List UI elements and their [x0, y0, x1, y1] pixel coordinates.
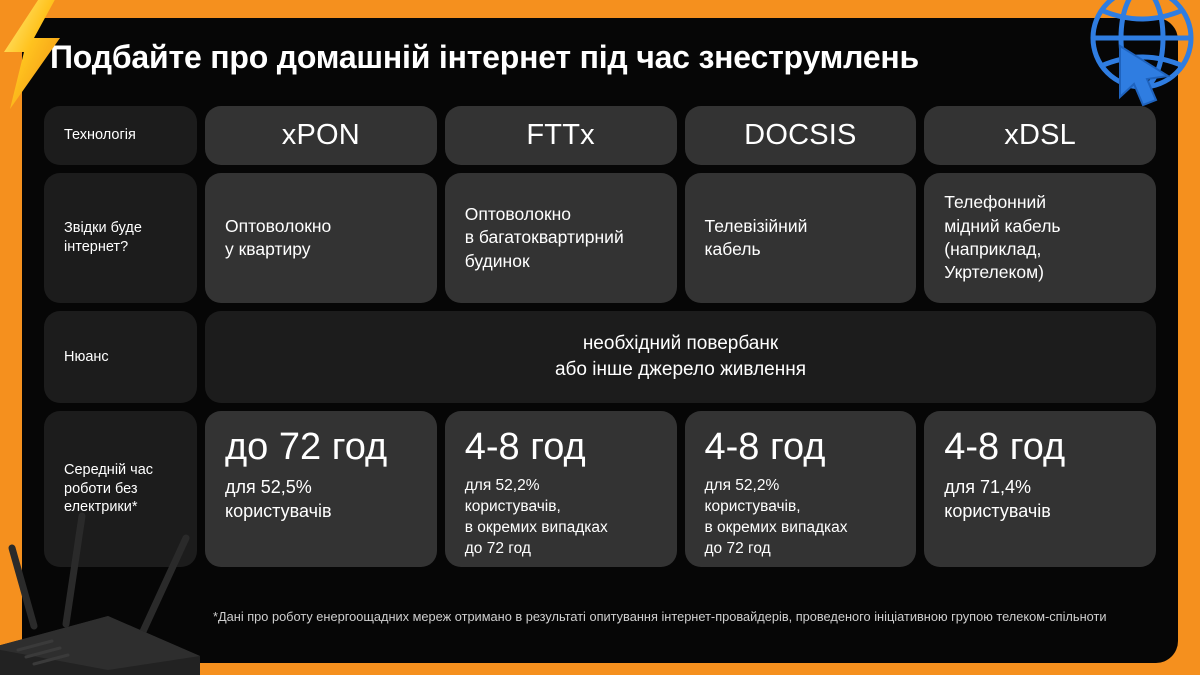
- cell-technology-docsis: DOCSIS: [685, 106, 917, 165]
- cell-technology-xpon: xPON: [205, 106, 437, 165]
- cell-source-fttx: Оптоволокно в багатоквартирний будинок: [445, 173, 677, 303]
- cell-uptime-fttx: 4-8 год для 52,2% користувачів, в окреми…: [445, 411, 677, 567]
- table-row-source: Звідки буде інтернет? Оптоволокно у квар…: [44, 173, 1156, 303]
- footnote-text: *Дані про роботу енергоощадних мереж отр…: [213, 608, 1143, 626]
- lightning-bolt-icon: [0, 0, 68, 109]
- cell-uptime-docsis: 4-8 год для 52,2% користувачів, в окреми…: [685, 411, 917, 567]
- uptime-detail-fttx: для 52,2% користувачів, в окремих випадк…: [465, 475, 657, 559]
- title-bar: Подбайте про домашній інтернет під час з…: [22, 18, 1178, 96]
- table-row-nuance: Нюанс необхідний повербанк або інше джер…: [44, 311, 1156, 403]
- row-label-uptime: Середній час роботи без електрики*: [44, 411, 197, 567]
- row-label-nuance: Нюанс: [44, 311, 197, 403]
- globe-cursor-icon: [1076, 0, 1200, 112]
- infographic-root: Подбайте про домашній інтернет під час з…: [0, 0, 1200, 675]
- page-title: Подбайте про домашній інтернет під час з…: [50, 39, 919, 76]
- comparison-table: Технологія xPON FTTx DOCSIS xDSL Звідки …: [44, 106, 1156, 567]
- uptime-detail-docsis: для 52,2% користувачів, в окремих випадк…: [705, 475, 897, 559]
- cell-technology-fttx: FTTx: [445, 106, 677, 165]
- row-label-source: Звідки буде інтернет?: [44, 173, 197, 303]
- table-row-technology: Технологія xPON FTTx DOCSIS xDSL: [44, 106, 1156, 165]
- uptime-value-xdsl: 4-8 год: [944, 427, 1136, 468]
- cell-source-docsis: Телевізійний кабель: [685, 173, 917, 303]
- cell-uptime-xpon: до 72 год для 52,5% користувачів: [205, 411, 437, 567]
- cell-nuance-merged: необхідний повербанк або інше джерело жи…: [205, 311, 1156, 403]
- uptime-value-xpon: до 72 год: [225, 427, 417, 468]
- uptime-value-docsis: 4-8 год: [705, 427, 897, 468]
- uptime-detail-xdsl: для 71,4% користувачів: [944, 475, 1136, 523]
- uptime-detail-xpon: для 52,5% користувачів: [225, 475, 417, 523]
- cell-uptime-xdsl: 4-8 год для 71,4% користувачів: [924, 411, 1156, 567]
- uptime-value-fttx: 4-8 год: [465, 427, 657, 468]
- row-label-technology: Технологія: [44, 106, 197, 165]
- cell-technology-xdsl: xDSL: [924, 106, 1156, 165]
- cell-source-xdsl: Телефонний мідний кабель (наприклад, Укр…: [924, 173, 1156, 303]
- table-row-uptime: Середній час роботи без електрики* до 72…: [44, 411, 1156, 567]
- cell-source-xpon: Оптоволокно у квартиру: [205, 173, 437, 303]
